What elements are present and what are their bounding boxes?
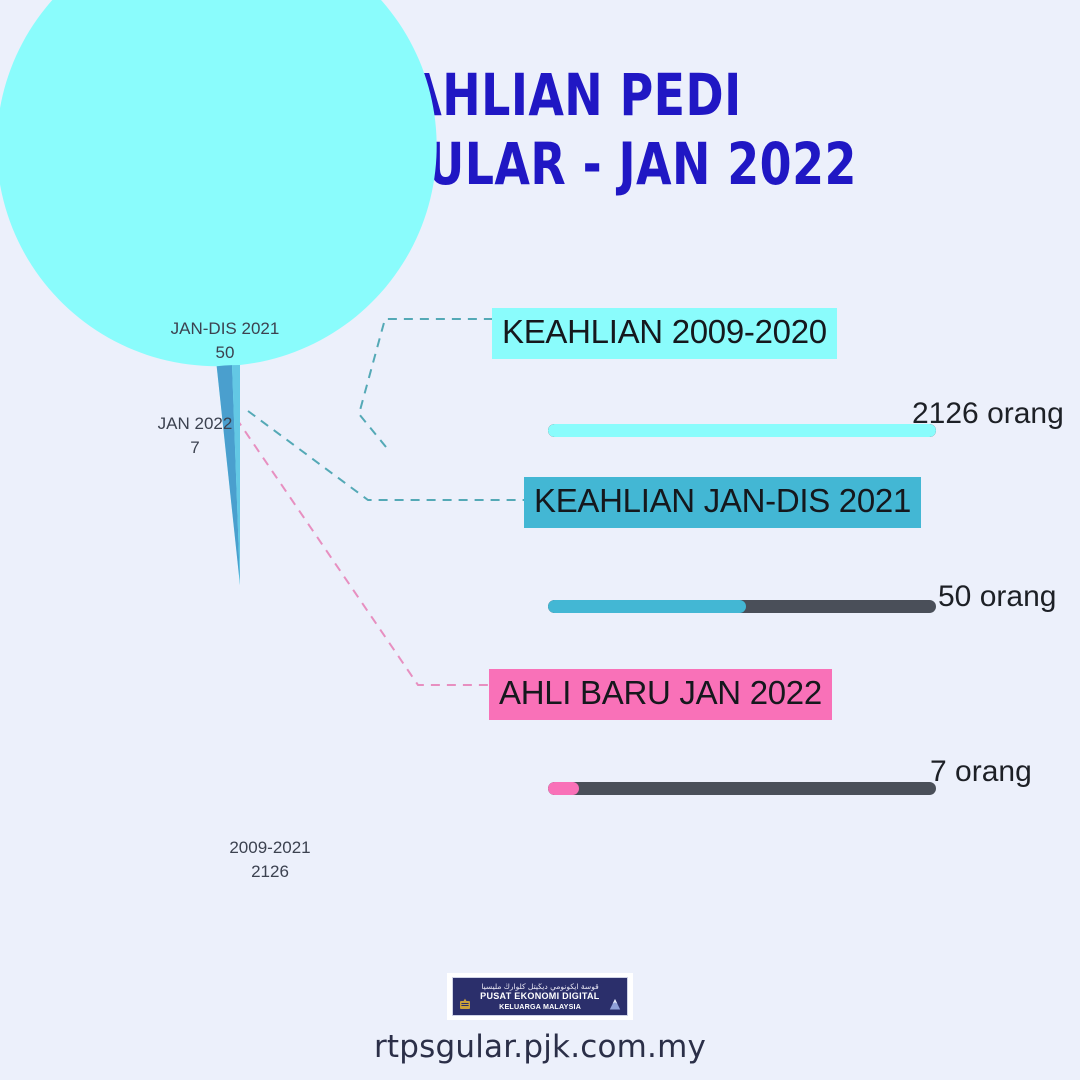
progress-bar-keahlian-jan-dis-2021 <box>548 600 936 613</box>
pedi-logo-jawi-text: قوسة ايكونومي ديڬيتل كلوارڬ مليسيا <box>481 982 598 991</box>
pie-label-2009-2021-name: 2009-2021 <box>229 838 310 857</box>
progress-bar-fill-keahlian-jan-dis-2021 <box>548 600 746 613</box>
pie-label-jan-2022-value: 7 <box>190 438 199 457</box>
pie-label-jan-dis-2021: JAN-DIS 2021 50 <box>160 317 290 365</box>
pie-slice-2009-2021 <box>0 0 437 585</box>
legend-label-ahli-baru-jan-2022: AHLI BARU JAN 2022 <box>489 669 832 720</box>
legend-item-keahlian-jan-dis-2021: KEAHLIAN JAN-DIS 2021 <box>524 477 921 528</box>
website-url: rtpsgular.pjk.com.my <box>0 1028 1080 1066</box>
pie-label-jan-2022: JAN 2022 7 <box>140 412 250 460</box>
progress-bar-fill-ahli-baru-jan-2022 <box>548 782 579 795</box>
pie-label-2009-2021-value: 2126 <box>251 862 289 881</box>
pedi-logo-plaque: قوسة ايكونومي ديڬيتل كلوارڬ مليسيا PUSAT… <box>452 977 628 1016</box>
pie-label-jan-dis-2021-name: JAN-DIS 2021 <box>171 319 280 338</box>
mountain-icon <box>609 998 621 1011</box>
pedi-logo: قوسة ايكونومي ديڬيتل كلوارڬ مليسيا PUSAT… <box>447 973 633 1020</box>
pedi-logo-line-1: PUSAT EKONOMI DIGITAL <box>480 991 599 1002</box>
progress-bar-fill-keahlian-2009-2020 <box>548 424 936 437</box>
progress-bar-keahlian-2009-2020 <box>548 424 936 437</box>
pie-label-jan-2022-name: JAN 2022 <box>158 414 233 433</box>
legend-item-keahlian-2009-2020: KEAHLIAN 2009-2020 <box>492 308 837 359</box>
legend-item-ahli-baru-jan-2022: AHLI BARU JAN 2022 <box>489 669 832 720</box>
pedi-logo-line-2: KELUARGA MALAYSIA <box>499 1002 581 1011</box>
pie-label-2009-2021: 2009-2021 2126 <box>180 836 360 884</box>
legend-label-keahlian-jan-dis-2021: KEAHLIAN JAN-DIS 2021 <box>524 477 921 528</box>
infographic-canvas: KEAHLIAN PEDI RTP SG ULAR - JAN 2022 JAN… <box>0 0 1080 1080</box>
bar-value-keahlian-jan-dis-2021: 50 orang <box>938 580 1056 614</box>
bar-value-ahli-baru-jan-2022: 7 orang <box>930 755 1032 789</box>
legend-label-keahlian-2009-2020: KEAHLIAN 2009-2020 <box>492 308 837 359</box>
progress-bar-ahli-baru-jan-2022 <box>548 782 936 795</box>
malaysia-crest-icon <box>459 998 471 1011</box>
bar-value-keahlian-2009-2020: 2126 orang <box>912 397 1064 431</box>
pie-label-jan-dis-2021-value: 50 <box>216 343 235 362</box>
